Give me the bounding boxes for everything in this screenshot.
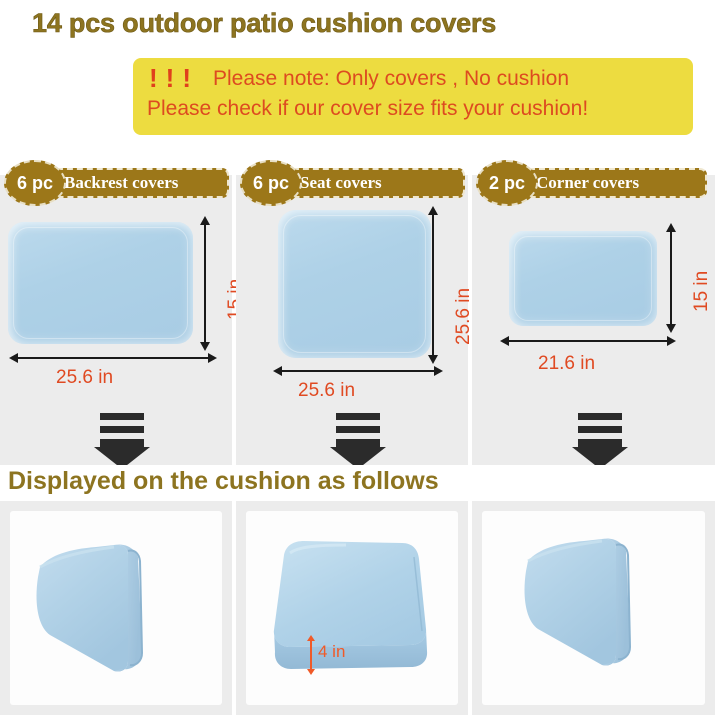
arrow-bar-2 — [100, 426, 144, 433]
badge-backrest-pill: Backrest covers — [40, 168, 229, 198]
badge-seat-pill: Seat covers — [276, 168, 465, 198]
seat-cushion-image — [246, 511, 458, 705]
thickness-arrowhead-bottom — [307, 669, 315, 675]
badge-seat-label: Seat covers — [300, 173, 382, 193]
corner-height-arrowhead-top — [666, 223, 676, 232]
backrest-width-arrowhead-left — [9, 353, 18, 363]
badge-backrest: Backrest covers 6 pc — [4, 160, 229, 206]
dimension-panel-seat: 25.6 in 25.6 in — [236, 175, 468, 472]
badge-corner-count-label: 2 pc — [489, 173, 525, 194]
corner-cover-illustration — [509, 231, 657, 326]
photo-panel-corner — [472, 501, 715, 715]
warning-note-box: !!! Please note: Only covers , No cushio… — [133, 58, 693, 135]
backrest-height-arrowhead-top — [200, 216, 210, 225]
arrow-bar-1 — [578, 413, 622, 420]
header: 14 pcs outdoor patio cushion covers !!! … — [0, 0, 715, 150]
badge-seat-count-label: 6 pc — [253, 173, 289, 194]
seat-width-label: 25.6 in — [298, 380, 355, 402]
photo-panel-backrest — [0, 501, 232, 715]
seat-height-arrowhead-bottom — [428, 355, 438, 364]
badge-backrest-label: Backrest covers — [64, 173, 178, 193]
arrow-bar-2 — [336, 426, 380, 433]
corner-height-label: 15 in — [691, 271, 713, 312]
subtitle: Displayed on the cushion as follows — [8, 467, 439, 496]
thickness-line — [310, 640, 312, 670]
dimension-panel-corner: 15 in 21.6 in — [472, 175, 715, 472]
photo-card-backrest — [10, 511, 222, 705]
seat-height-arrowhead-top — [428, 206, 438, 215]
backrest-height-arrowhead-bottom — [200, 342, 210, 351]
corner-pillow-image — [482, 511, 705, 705]
backrest-width-arrowhead-right — [208, 353, 217, 363]
down-arrow-backrest — [94, 413, 150, 469]
thickness-label: 4 in — [318, 642, 345, 662]
badge-corner-count: 2 pc — [476, 160, 538, 206]
badge-corner-pill: Corner covers — [512, 168, 707, 198]
seat-width-arrowhead-right — [434, 366, 443, 376]
corner-height-line — [670, 232, 672, 324]
seat-height-line — [432, 215, 434, 355]
badge-seat: Seat covers 6 pc — [240, 160, 465, 206]
arrow-bar-2 — [578, 426, 622, 433]
down-arrow-seat — [330, 413, 386, 469]
seat-width-arrowhead-left — [273, 366, 282, 376]
badge-backrest-count: 6 pc — [4, 160, 66, 206]
corner-width-arrowhead-right — [667, 336, 676, 346]
page-title: 14 pcs outdoor patio cushion covers — [32, 8, 496, 39]
badge-corner: Corner covers 2 pc — [476, 160, 711, 206]
arrow-bar-1 — [100, 413, 144, 420]
backrest-width-label: 25.6 in — [56, 367, 113, 389]
seat-cover-illustration — [278, 210, 431, 358]
photo-card-corner — [482, 511, 705, 705]
corner-width-arrowhead-left — [500, 336, 509, 346]
subtitle-band: Displayed on the cushion as follows — [0, 465, 715, 501]
photo-card-seat: 4 in — [246, 511, 458, 705]
photo-panel-seat: 4 in — [236, 501, 468, 715]
exclamation-icon: !!! — [149, 63, 199, 94]
backrest-width-line — [18, 357, 208, 359]
note-text-secondary: Please check if our cover size fits your… — [147, 97, 588, 121]
arrow-bar-1 — [336, 413, 380, 420]
seat-width-line — [282, 370, 434, 372]
note-line-1: !!! Please note: Only covers , No cushio… — [149, 63, 679, 94]
badge-corner-label: Corner covers — [536, 173, 639, 193]
backrest-cover-illustration — [8, 222, 193, 344]
backrest-height-line — [204, 225, 206, 342]
thickness-arrowhead-top — [307, 635, 315, 641]
backrest-pillow-image — [10, 511, 222, 705]
corner-width-line — [509, 340, 667, 342]
note-text-primary: Please note: Only covers , No cushion — [213, 67, 569, 91]
dimension-panel-backrest: 15 in 25.6 in — [0, 175, 232, 472]
corner-width-label: 21.6 in — [538, 353, 595, 375]
badge-backrest-count-label: 6 pc — [17, 173, 53, 194]
down-arrow-corner — [572, 413, 628, 469]
badge-seat-count: 6 pc — [240, 160, 302, 206]
corner-height-arrowhead-bottom — [666, 324, 676, 333]
